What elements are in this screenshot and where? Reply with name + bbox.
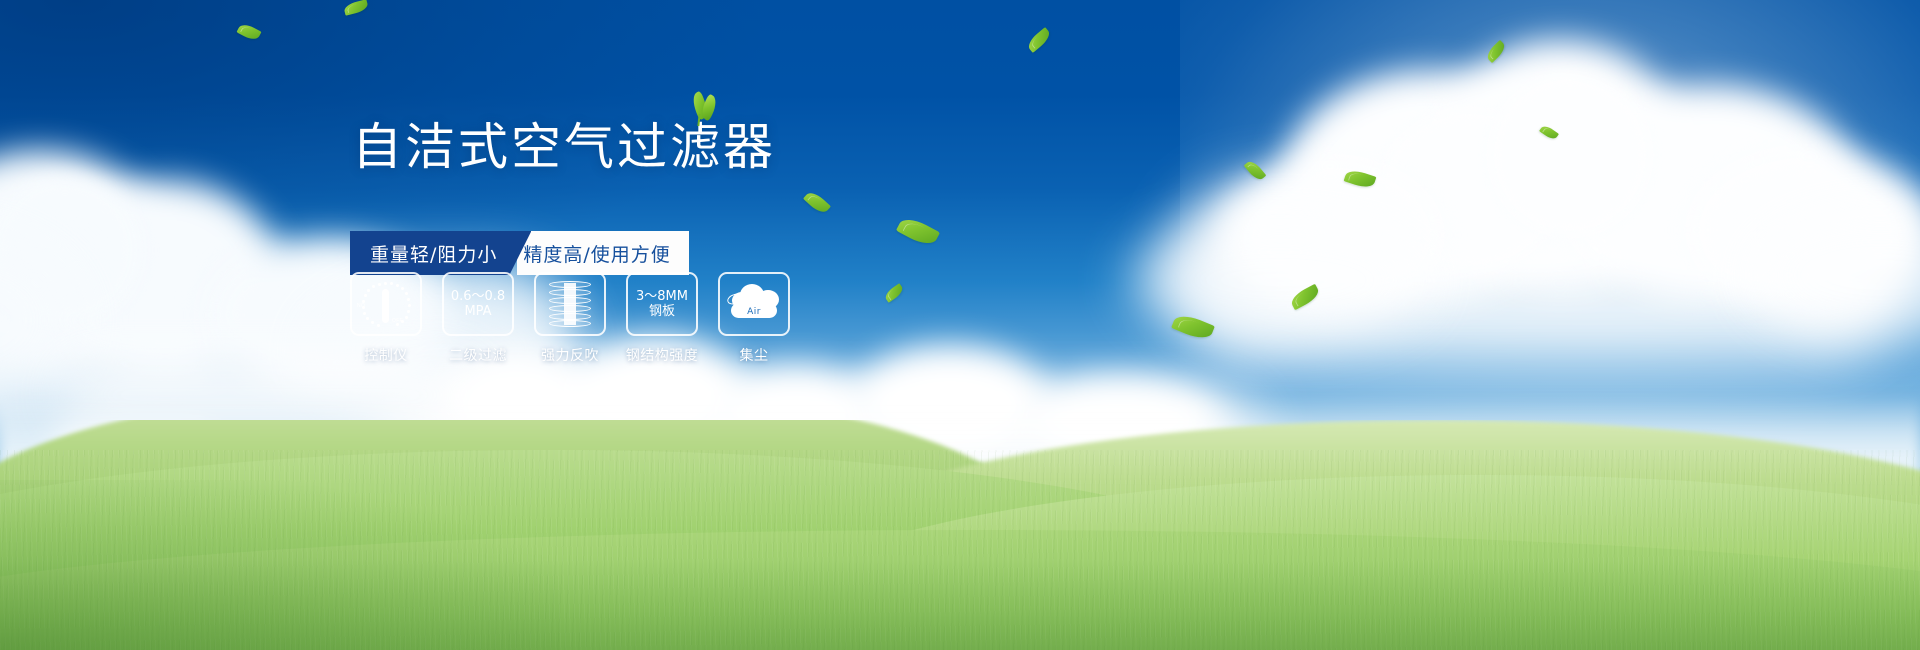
gauge-min-label: NO <box>357 303 365 309</box>
subtitle-badge-row: 重量轻/阻力小 精度高/使用方便 <box>350 231 689 275</box>
feature-box: 0.6～0.8 MPA <box>442 272 514 336</box>
grass-field <box>0 420 1920 650</box>
feature-item-steel-strength[interactable]: 3～8MM 钢板 钢结构强度 <box>626 272 698 365</box>
feature-label: 钢结构强度 <box>626 345 699 365</box>
feature-box: NO OFF <box>350 272 422 336</box>
badge-label: 精度高/使用方便 <box>523 240 670 267</box>
feature-item-controller[interactable]: NO OFF 控制仪 <box>350 272 422 365</box>
feature-value-line2: 钢板 <box>649 304 675 319</box>
page-title: 自洁式空气过滤器 <box>352 122 776 172</box>
feature-value-line1: 0.6～0.8 <box>451 289 505 304</box>
stacked-discs-filter-icon <box>549 281 591 327</box>
gauge-max-label: OFF <box>392 318 403 324</box>
feature-icon-row: NO OFF 控制仪 0.6～0.8 MPA 二级过滤 <box>350 272 790 365</box>
feature-label: 集尘 <box>740 345 769 365</box>
cloud-air-icon: Air <box>727 284 781 324</box>
feature-label: 二级过滤 <box>449 345 507 365</box>
feature-value-line2: MPA <box>464 304 491 319</box>
feature-box: 3～8MM 钢板 <box>626 272 698 336</box>
badge-label: 重量轻/阻力小 <box>370 240 497 267</box>
badge-precision-easyuse[interactable]: 精度高/使用方便 <box>517 231 688 275</box>
feature-box: Air <box>718 272 790 336</box>
feature-label: 控制仪 <box>364 345 408 365</box>
badge-lightweight-lowresistance[interactable]: 重量轻/阻力小 <box>350 231 531 275</box>
green-leaf-pair-icon <box>678 92 722 126</box>
feature-item-two-stage-filter[interactable]: 0.6～0.8 MPA 二级过滤 <box>442 272 514 365</box>
gauge-dial-icon: NO OFF <box>361 281 411 327</box>
white-cloud-right <box>1130 30 1920 360</box>
feature-item-dust-collection[interactable]: Air 集尘 <box>718 272 790 365</box>
feature-item-strong-backblow[interactable]: 强力反吹 <box>534 272 606 365</box>
banner-hero: 自洁式空气过滤器 重量轻/阻力小 精度高/使用方便 <box>0 0 1920 650</box>
feature-value-line1: 3～8MM <box>636 289 688 304</box>
feature-label: 强力反吹 <box>541 345 599 365</box>
feature-value: Air <box>727 307 781 317</box>
feature-box <box>534 272 606 336</box>
